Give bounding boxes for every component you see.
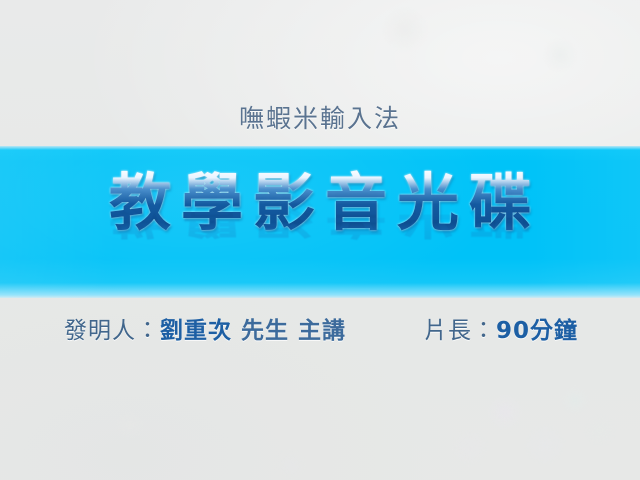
duration-credit: 片長：90分鐘 xyxy=(424,314,578,348)
inventor-credit: 發明人：劉重次先生主講 xyxy=(64,314,346,348)
credits-line: 發明人：劉重次先生主講 片長：90分鐘 xyxy=(0,314,640,348)
product-name-text: 嘸蝦米輸入法 xyxy=(0,103,640,135)
video-title-card: 嘸蝦米輸入法 教學影音光碟 教學影音光碟 發明人：劉重次先生主講 片長：90分鐘 xyxy=(0,0,640,480)
duration-value: 90分鐘 xyxy=(496,318,578,344)
inventor-name: 劉重次 xyxy=(160,318,232,344)
main-title-text: 教學影音光碟 xyxy=(0,168,640,238)
inventor-label: 發明人： xyxy=(64,318,160,344)
inventor-honorific: 先生 xyxy=(241,318,289,344)
cyan-title-banner: 教學影音光碟 教學影音光碟 xyxy=(0,146,640,298)
inventor-role: 主講 xyxy=(298,318,346,344)
duration-label: 片長： xyxy=(424,318,496,344)
